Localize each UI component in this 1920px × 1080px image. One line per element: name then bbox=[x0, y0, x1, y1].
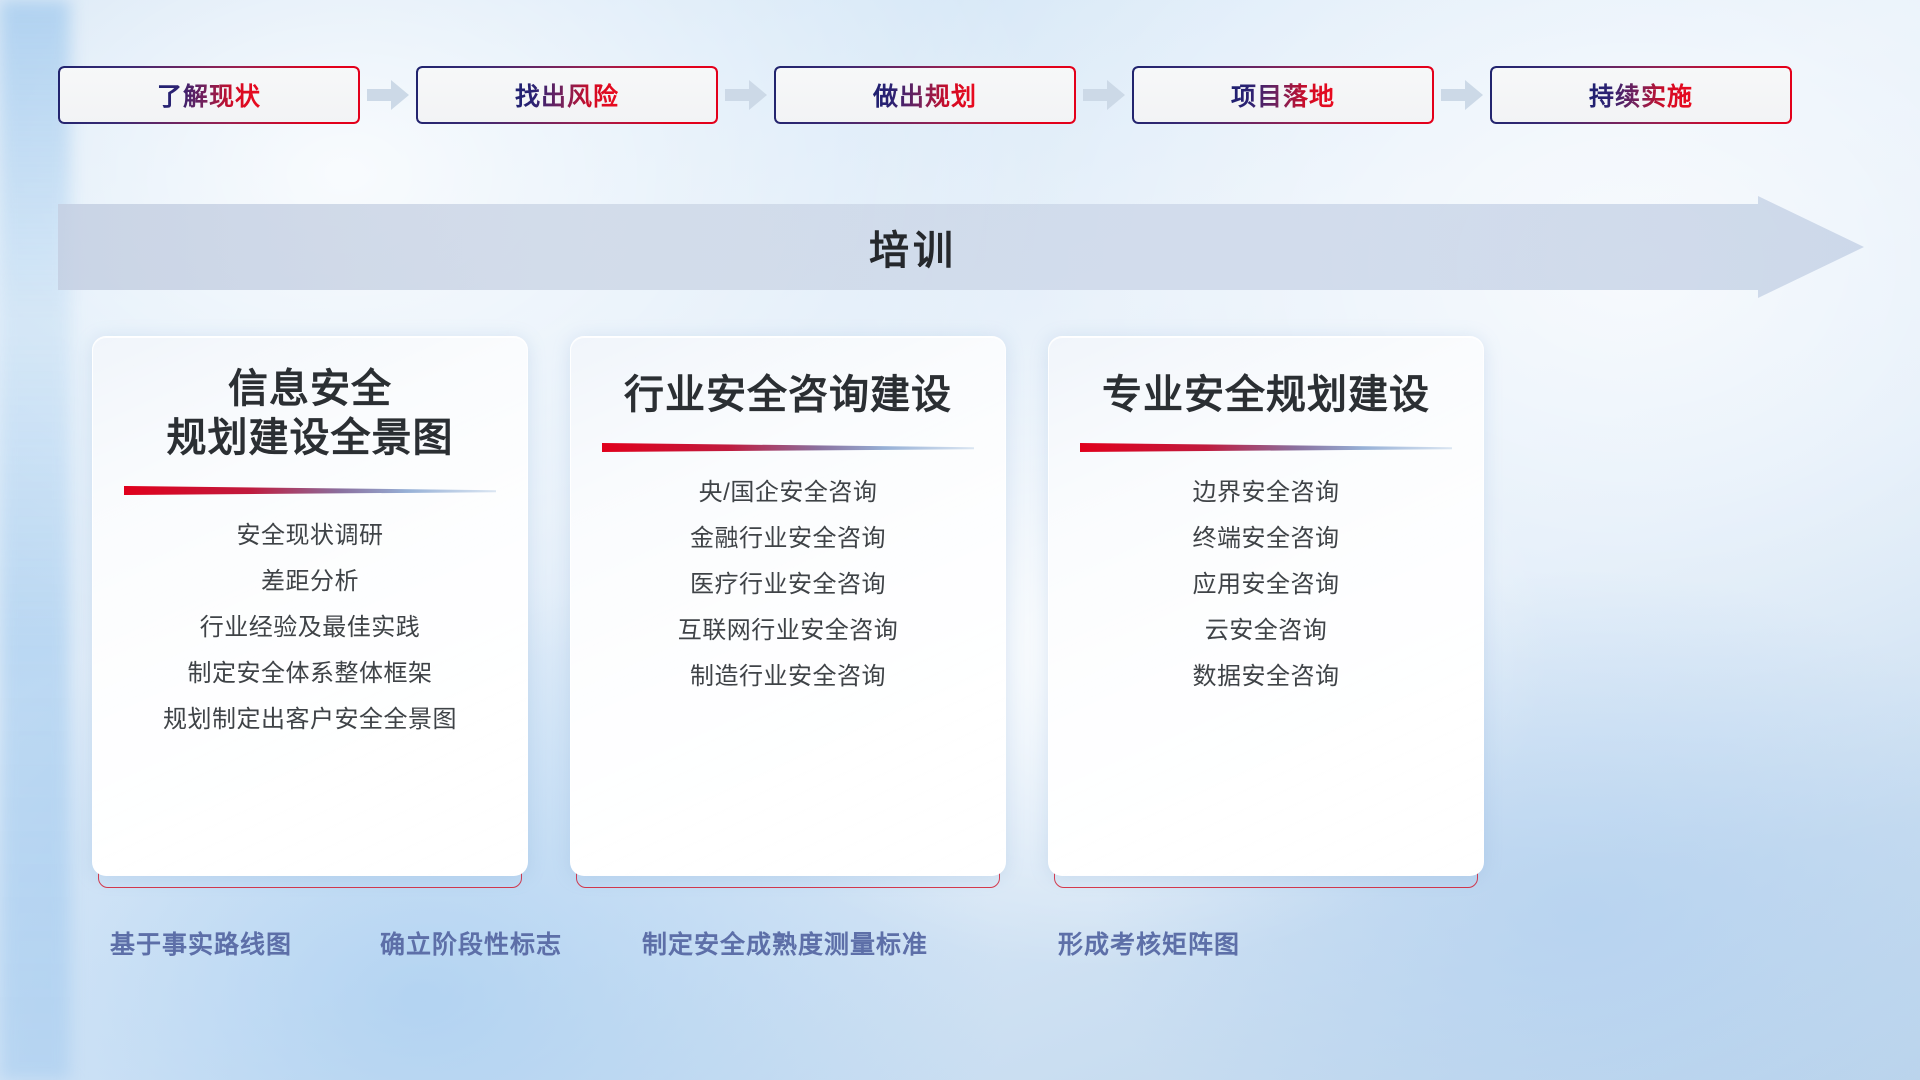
card-item-list: 安全现状调研 差距分析 行业经验及最佳实践 制定安全体系整体框架 规划制定出客户… bbox=[163, 513, 457, 743]
footnote-3: 形成考核矩阵图 bbox=[1058, 925, 1240, 961]
arrow-right-icon bbox=[718, 66, 774, 124]
process-step-2[interactable]: 做出规划 bbox=[774, 66, 1076, 124]
list-item: 规划制定出客户安全全景图 bbox=[163, 697, 457, 743]
card-title: 信息安全 规划建设全景图 bbox=[167, 365, 454, 463]
process-step-bar: 了解现状 找出风险 做出规划 项目落地 持续实施 bbox=[58, 66, 1870, 124]
card-industry-security-consulting[interactable]: 行业安全咨询建设 央/国企安全咨询 bbox=[570, 336, 1006, 876]
process-step-label: 找出风险 bbox=[515, 77, 619, 113]
card-slot-1: 行业安全咨询建设 央/国企安全咨询 bbox=[570, 336, 1006, 876]
footnote-2: 制定安全成熟度测量标准 bbox=[642, 925, 928, 961]
list-item: 边界安全咨询 bbox=[1193, 470, 1340, 516]
list-item: 应用安全咨询 bbox=[1193, 562, 1340, 608]
process-step-3[interactable]: 项目落地 bbox=[1132, 66, 1434, 124]
process-step-1[interactable]: 找出风险 bbox=[416, 66, 718, 124]
banner-title: 培训 bbox=[58, 196, 1768, 298]
list-item: 互联网行业安全咨询 bbox=[678, 608, 899, 654]
process-step-4[interactable]: 持续实施 bbox=[1490, 66, 1792, 124]
gradient-divider-icon bbox=[124, 485, 496, 497]
background-left-stripe bbox=[0, 0, 70, 1080]
process-step-label: 项目落地 bbox=[1231, 77, 1335, 113]
list-item: 行业经验及最佳实践 bbox=[200, 605, 421, 651]
gradient-divider-icon bbox=[602, 442, 974, 454]
gradient-divider-icon bbox=[1080, 442, 1452, 454]
card-title: 行业安全咨询建设 bbox=[624, 371, 952, 420]
list-item: 金融行业安全咨询 bbox=[690, 516, 886, 562]
card-professional-security-planning[interactable]: 专业安全规划建设 边界安全咨询 bbox=[1048, 336, 1484, 876]
footnote-1: 确立阶段性标志 bbox=[380, 925, 562, 961]
list-item: 云安全咨询 bbox=[1205, 608, 1328, 654]
footnote-0: 基于事实路线图 bbox=[110, 925, 292, 961]
card-title: 专业安全规划建设 bbox=[1102, 371, 1430, 420]
training-banner: 培训 bbox=[58, 196, 1864, 298]
arrow-right-icon bbox=[1076, 66, 1132, 124]
footnote-row: 基于事实路线图 确立阶段性标志 制定安全成熟度测量标准 形成考核矩阵图 bbox=[0, 925, 1920, 973]
process-step-label: 了解现状 bbox=[157, 77, 261, 113]
list-item: 安全现状调研 bbox=[237, 513, 384, 559]
card-item-list: 央/国企安全咨询 金融行业安全咨询 医疗行业安全咨询 互联网行业安全咨询 制造行… bbox=[678, 470, 899, 700]
process-step-label: 做出规划 bbox=[873, 77, 977, 113]
list-item: 终端安全咨询 bbox=[1193, 516, 1340, 562]
arrow-right-icon bbox=[360, 66, 416, 124]
card-item-list: 边界安全咨询 终端安全咨询 应用安全咨询 云安全咨询 数据安全咨询 bbox=[1193, 470, 1340, 700]
list-item: 制造行业安全咨询 bbox=[690, 654, 886, 700]
list-item: 医疗行业安全咨询 bbox=[690, 562, 886, 608]
list-item: 央/国企安全咨询 bbox=[699, 470, 878, 516]
process-step-0[interactable]: 了解现状 bbox=[58, 66, 360, 124]
card-slot-0: 信息安全 规划建设全景图 安全现状调研 bbox=[92, 336, 528, 876]
process-step-label: 持续实施 bbox=[1589, 77, 1693, 113]
card-slot-2: 专业安全规划建设 边界安全咨询 bbox=[1048, 336, 1484, 876]
list-item: 数据安全咨询 bbox=[1193, 654, 1340, 700]
list-item: 差距分析 bbox=[261, 559, 359, 605]
arrow-right-icon bbox=[1434, 66, 1490, 124]
card-row: 信息安全 规划建设全景图 安全现状调研 bbox=[92, 336, 1832, 876]
card-information-security-blueprint[interactable]: 信息安全 规划建设全景图 安全现状调研 bbox=[92, 336, 528, 876]
list-item: 制定安全体系整体框架 bbox=[188, 651, 433, 697]
